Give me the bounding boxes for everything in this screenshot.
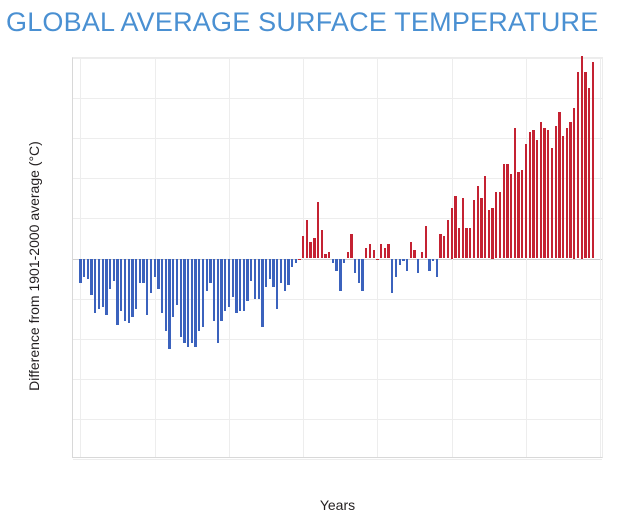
bar-1904: [168, 259, 170, 349]
bar-2017: [588, 88, 590, 258]
bar-1993: [499, 192, 501, 258]
gridline-vertical: [155, 58, 156, 457]
bar-1926: [250, 259, 252, 281]
bar-1922: [235, 259, 237, 313]
bar-1896: [139, 259, 141, 283]
bar-1984: [465, 228, 467, 258]
bar-1914: [206, 259, 208, 291]
bar-1963: [387, 244, 389, 258]
bar-1990: [488, 210, 490, 258]
bar-1931: [269, 259, 271, 279]
bar-1950: [339, 259, 341, 291]
bar-1944: [317, 202, 319, 258]
bar-1915: [209, 259, 211, 283]
bar-1883: [90, 259, 92, 295]
bar-1941: [306, 220, 308, 258]
bar-1968: [406, 259, 408, 271]
bar-1927: [254, 259, 256, 299]
bar-2011: [566, 128, 568, 258]
bar-1880: [79, 259, 81, 283]
gridline-vertical: [80, 58, 81, 457]
bar-1947: [328, 252, 330, 258]
plot-area: [72, 57, 603, 458]
bar-1891: [120, 259, 122, 311]
bar-1911: [194, 259, 196, 347]
bar-1975: [432, 259, 434, 261]
bar-1919: [224, 259, 226, 311]
x-axis-title: Years: [72, 497, 603, 513]
bar-1909: [187, 259, 189, 347]
bar-1955: [358, 259, 360, 283]
bar-1897: [142, 259, 144, 283]
bar-2007: [551, 148, 553, 258]
bar-2002: [532, 130, 534, 258]
bar-1918: [220, 259, 222, 321]
bar-1894: [131, 259, 133, 317]
gridline-vertical: [229, 58, 230, 457]
bar-1924: [243, 259, 245, 311]
bar-1977: [439, 234, 441, 258]
bar-1996: [510, 174, 512, 258]
bar-1962: [384, 248, 386, 258]
bar-1954: [354, 259, 356, 273]
bar-1893: [128, 259, 130, 323]
bar-1920: [228, 259, 230, 307]
gridline-horizontal: [73, 299, 602, 300]
bar-2005: [543, 128, 545, 258]
bar-1899: [150, 259, 152, 293]
bar-2000: [525, 144, 527, 258]
bar-1933: [276, 259, 278, 309]
gridline-horizontal: [73, 98, 602, 99]
bar-1967: [402, 259, 404, 261]
bar-2010: [562, 136, 564, 258]
chart-title: GLOBAL AVERAGE SURFACE TEMPERATURE: [6, 2, 606, 42]
chart-root: GLOBAL AVERAGE SURFACE TEMPERATURE Diffe…: [0, 0, 620, 531]
bar-1948: [332, 259, 334, 263]
bar-1989: [484, 176, 486, 258]
bar-1900: [154, 259, 156, 277]
bar-1898: [146, 259, 148, 315]
gridline-horizontal: [73, 379, 602, 380]
bar-1940: [302, 236, 304, 258]
bar-1885: [98, 259, 100, 309]
bar-1997: [514, 128, 516, 258]
bar-1956: [361, 259, 363, 291]
bar-1881: [83, 259, 85, 277]
bar-1889: [113, 259, 115, 281]
bar-1945: [321, 230, 323, 258]
bar-1886: [102, 259, 104, 307]
bar-1972: [421, 252, 423, 258]
bar-1949: [335, 259, 337, 271]
bar-1929: [261, 259, 263, 327]
bar-1951: [343, 259, 345, 263]
bar-1998: [517, 172, 519, 258]
bar-1917: [217, 259, 219, 343]
bar-1907: [180, 259, 182, 337]
bar-1910: [191, 259, 193, 343]
gridline-horizontal: [73, 58, 602, 59]
bar-1935: [284, 259, 286, 291]
bar-1974: [428, 259, 430, 271]
bar-1961: [380, 244, 382, 258]
bar-1943: [313, 238, 315, 258]
bar-1906: [176, 259, 178, 305]
bar-1970: [413, 250, 415, 258]
bar-1925: [246, 259, 248, 301]
bar-1994: [503, 164, 505, 258]
bar-1982: [458, 228, 460, 258]
bar-1939: [298, 259, 300, 260]
bar-1887: [105, 259, 107, 315]
bar-2006: [547, 130, 549, 258]
gridline-vertical: [600, 58, 601, 457]
bar-1958: [369, 244, 371, 258]
bar-2014: [577, 72, 579, 258]
bar-1980: [451, 208, 453, 258]
bar-1895: [135, 259, 137, 309]
bar-1934: [280, 259, 282, 283]
bar-1960: [376, 259, 378, 260]
bar-1932: [272, 259, 274, 287]
bar-2003: [536, 140, 538, 258]
bar-1978: [443, 236, 445, 258]
bar-2012: [569, 122, 571, 258]
bar-2009: [558, 112, 560, 258]
gridline-horizontal: [73, 138, 602, 139]
gridline-horizontal: [73, 419, 602, 420]
bar-1953: [350, 234, 352, 258]
bar-2008: [555, 126, 557, 258]
bar-1903: [165, 259, 167, 331]
bar-1971: [417, 259, 419, 273]
bar-1983: [462, 198, 464, 258]
bar-1890: [116, 259, 118, 325]
bar-1986: [473, 200, 475, 258]
bar-1923: [239, 259, 241, 311]
bar-1888: [109, 259, 111, 289]
bar-1938: [295, 259, 297, 263]
bar-1901: [157, 259, 159, 289]
bar-2004: [540, 122, 542, 258]
bar-2013: [573, 108, 575, 258]
bar-1892: [124, 259, 126, 321]
bar-1981: [454, 196, 456, 258]
bar-1991: [491, 208, 493, 258]
bar-2001: [529, 132, 531, 258]
bar-1988: [480, 198, 482, 258]
bar-1928: [258, 259, 260, 299]
bar-1905: [172, 259, 174, 317]
bar-1908: [183, 259, 185, 343]
bar-1957: [365, 248, 367, 258]
gridline-vertical: [377, 58, 378, 457]
bar-1930: [265, 259, 267, 287]
bar-1959: [373, 250, 375, 258]
bar-1979: [447, 220, 449, 258]
bar-1969: [410, 242, 412, 258]
bar-1916: [213, 259, 215, 321]
bar-1952: [347, 252, 349, 258]
bar-1995: [506, 164, 508, 258]
bar-2015: [581, 56, 583, 259]
bar-2018: [592, 62, 594, 258]
bar-1913: [202, 259, 204, 327]
bar-1921: [232, 259, 234, 297]
bar-1937: [291, 259, 293, 267]
bar-1992: [495, 192, 497, 258]
bar-1936: [287, 259, 289, 285]
bar-1942: [309, 242, 311, 258]
bar-1976: [436, 259, 438, 277]
bar-1882: [87, 259, 89, 279]
bar-1964: [391, 259, 393, 293]
bar-1999: [521, 170, 523, 258]
gridline-horizontal: [73, 459, 602, 460]
bar-1902: [161, 259, 163, 313]
bar-1987: [477, 186, 479, 258]
bar-1912: [198, 259, 200, 331]
bar-1965: [395, 259, 397, 277]
bar-1966: [399, 259, 401, 265]
bar-1985: [469, 228, 471, 258]
bar-1884: [94, 259, 96, 313]
bar-1973: [425, 226, 427, 258]
bar-2016: [584, 72, 586, 258]
gridline-horizontal: [73, 339, 602, 340]
bar-1946: [324, 254, 326, 258]
y-axis-title: Difference from 1901-2000 average (°C): [26, 66, 42, 466]
